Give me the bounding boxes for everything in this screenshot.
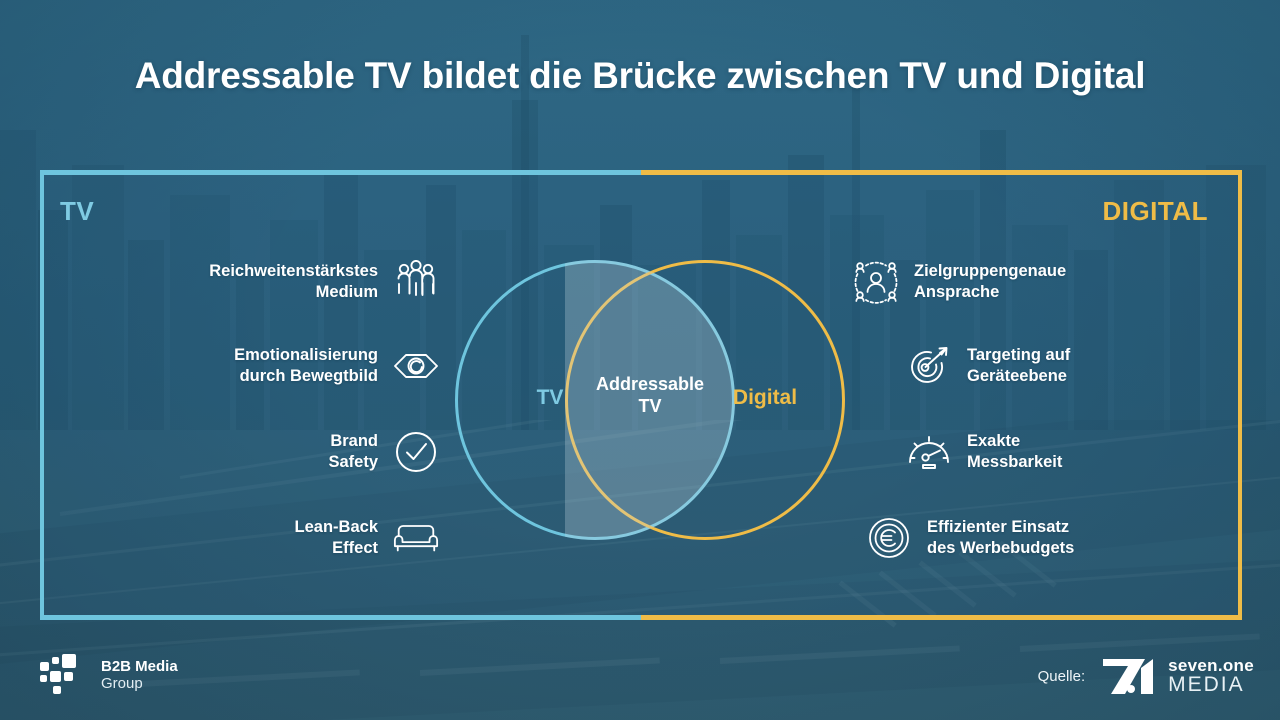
panel-border-bottom-tv xyxy=(40,615,641,620)
b2b-dot-matrix-icon xyxy=(40,654,88,698)
feature-item-reichweite: Reichweitenstärkstes Medium xyxy=(209,258,440,306)
feature-label: Brand Safety xyxy=(328,431,378,473)
b2b-logo-line1: B2B Media xyxy=(101,659,178,676)
feature-item-targeting: Targeting auf Geräteebene xyxy=(905,342,1070,390)
panel-border-right xyxy=(1238,170,1242,620)
feature-label: Emotionalisierung durch Bewegtbild xyxy=(234,345,378,387)
feature-label: Exakte Messbarkeit xyxy=(967,431,1062,473)
feature-label: Lean-Back Effect xyxy=(295,517,378,559)
feature-item-zielgruppe: Zielgruppengenaue Ansprache xyxy=(852,258,1066,306)
panel-border-top-tv xyxy=(40,170,641,175)
b2b-media-group-logo: B2B Media Group xyxy=(40,654,178,698)
target-audience-icon xyxy=(852,258,900,306)
feature-label: Reichweitenstärkstes Medium xyxy=(209,261,378,303)
panel-border-bottom-digital xyxy=(641,615,1242,620)
feature-label: Targeting auf Geräteebene xyxy=(967,345,1070,387)
venn-diagram: TV Digital Addressable TV xyxy=(455,250,845,550)
b2b-logo-line2: Group xyxy=(101,676,178,693)
panel-border-top-digital xyxy=(641,170,1242,175)
check-circle-icon xyxy=(392,428,440,476)
eye-icon xyxy=(392,342,440,390)
feature-item-emotionalisierung: Emotionalisierung durch Bewegtbild xyxy=(234,342,440,390)
comparison-panel: TV DIGITAL Reichweitenstärkstes Medium E… xyxy=(40,170,1242,620)
panel-label-tv: TV xyxy=(60,196,94,227)
feature-item-lean-back: Lean-Back Effect xyxy=(295,514,440,562)
gauge-icon xyxy=(905,428,953,476)
venn-label-addressable-tv: Addressable TV xyxy=(555,374,745,418)
seven-one-media-logo: seven.one MEDIA xyxy=(1101,656,1254,696)
people-group-icon xyxy=(392,258,440,306)
seven-one-mark-icon xyxy=(1101,656,1161,696)
panel-border-left xyxy=(40,170,44,620)
euro-coin-icon xyxy=(865,514,913,562)
feature-item-werbebudget: Effizienter Einsatz des Werbebudgets xyxy=(865,514,1074,562)
source-label: Quelle: xyxy=(1038,668,1086,685)
feature-item-brand-safety: Brand Safety xyxy=(328,428,440,476)
feature-label: Zielgruppengenaue Ansprache xyxy=(914,261,1066,303)
seven-one-logo-line2: MEDIA xyxy=(1168,674,1254,695)
feature-label: Effizienter Einsatz des Werbebudgets xyxy=(927,517,1074,559)
seven-one-logo-line1: seven.one xyxy=(1168,657,1254,674)
source-attribution: Quelle: seven.one MEDIA xyxy=(1038,656,1254,696)
panel-label-digital: DIGITAL xyxy=(1102,196,1208,227)
dartboard-arrow-icon xyxy=(905,342,953,390)
sofa-icon xyxy=(392,514,440,562)
feature-item-messbarkeit: Exakte Messbarkeit xyxy=(905,428,1062,476)
page-title: Addressable TV bildet die Brücke zwische… xyxy=(0,55,1280,97)
